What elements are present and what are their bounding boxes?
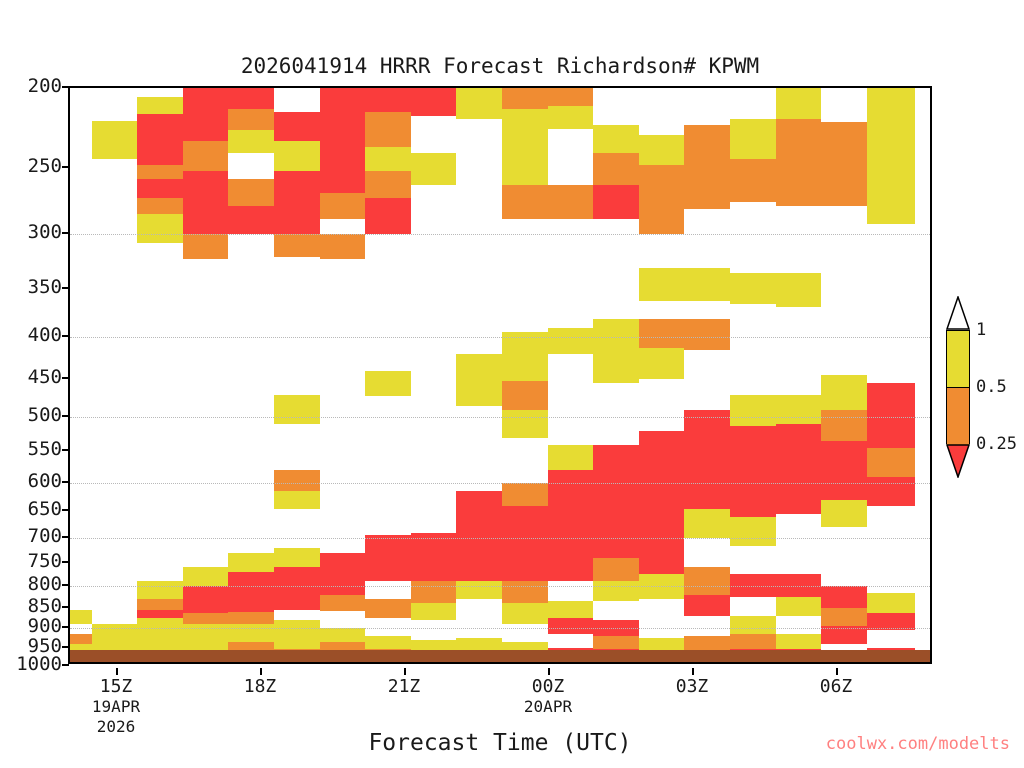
x-tick-group: 18Z <box>244 676 277 697</box>
x-tick-group: 06Z <box>820 676 853 697</box>
colorbar-cap-bottom <box>946 444 970 478</box>
colorbar-tick-label: 0.25 <box>976 434 1017 454</box>
y-axis-ticks <box>0 86 70 664</box>
terrain-layer <box>70 88 930 662</box>
x-tick-label: 06Z <box>820 676 853 697</box>
terrain-band <box>70 650 930 664</box>
x-tick-date-label: 19APR <box>92 697 140 717</box>
x-tick-mark <box>260 668 262 675</box>
x-tick-label: 00Z <box>524 676 572 697</box>
watermark-link[interactable]: coolwx.com/modelts <box>826 734 1010 754</box>
x-tick-mark <box>692 668 694 675</box>
x-axis-title: Forecast Time (UTC) <box>68 730 932 756</box>
x-tick-label: 21Z <box>388 676 421 697</box>
chart-canvas: 2026041914 HRRR Forecast Richardson# KPW… <box>0 0 1024 768</box>
x-tick-mark <box>836 668 838 675</box>
x-tick-date-label: 20APR <box>524 697 572 717</box>
colorbar-cap-top <box>946 296 970 330</box>
colorbar-segment <box>947 388 969 445</box>
x-tick-label: 18Z <box>244 676 277 697</box>
page-title: 2026041914 HRRR Forecast Richardson# KPW… <box>0 54 1000 78</box>
x-tick-group: 15Z19APR2026 <box>92 676 140 737</box>
colorbar-legend: 10.50.25 <box>946 296 970 478</box>
x-tick-label: 03Z <box>676 676 709 697</box>
colorbar-segment <box>947 331 969 388</box>
colorbar-tick-label: 1 <box>976 320 986 340</box>
heatmap-cell <box>92 662 138 664</box>
x-tick-group: 00Z20APR <box>524 676 572 717</box>
x-tick-group: 03Z <box>676 676 709 697</box>
x-tick-mark <box>404 668 406 675</box>
colorbar-tick-label: 0.5 <box>976 377 1007 397</box>
y-tick-mark <box>62 664 69 666</box>
x-tick-label: 15Z <box>92 676 140 697</box>
plot-area <box>68 86 932 664</box>
x-tick-mark <box>116 668 118 675</box>
x-tick-mark <box>548 668 550 675</box>
x-tick-group: 21Z <box>388 676 421 697</box>
colorbar-body <box>946 330 970 444</box>
